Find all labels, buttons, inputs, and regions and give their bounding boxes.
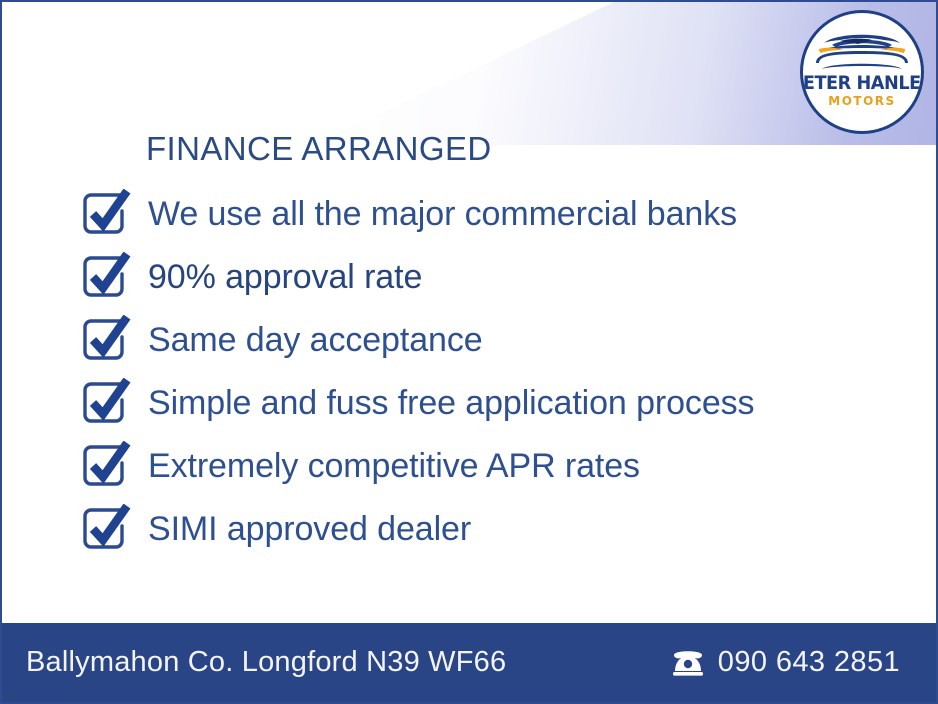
checkbox-checked-icon [80, 378, 134, 428]
checkbox-checked-icon [80, 504, 134, 554]
footer-phone-group[interactable]: 090 643 2851 [671, 646, 900, 679]
list-item: Extremely competitive APR rates [80, 434, 936, 497]
telephone-icon [671, 648, 705, 678]
list-item-label: Simple and fuss free application process [148, 384, 754, 422]
main-content: FINANCE ARRANGED We use all the major co… [2, 2, 936, 622]
finance-poster: PETER HANLEY MOTORS FINANCE ARRANGED We … [0, 0, 938, 704]
list-item-label: SIMI approved dealer [148, 510, 471, 548]
footer-phone-number: 090 643 2851 [718, 646, 900, 679]
checkbox-checked-icon [80, 189, 134, 239]
checkbox-checked-icon [80, 252, 134, 302]
checkbox-checked-icon [80, 441, 134, 491]
list-item: Simple and fuss free application process [80, 371, 936, 434]
list-item: Same day acceptance [80, 308, 936, 371]
checkbox-checked-icon [80, 315, 134, 365]
list-item: We use all the major commercial banks [80, 182, 936, 245]
feature-list: We use all the major commercial banks 90… [80, 182, 936, 560]
footer-bar: Ballymahon Co. Longford N39 WF66 090 643… [2, 623, 936, 702]
list-item: SIMI approved dealer [80, 497, 936, 560]
list-item-label: Same day acceptance [148, 321, 483, 359]
list-item-label: Extremely competitive APR rates [148, 447, 640, 485]
list-item-label: We use all the major commercial banks [148, 195, 737, 233]
list-item: 90% approval rate [80, 245, 936, 308]
page-title: FINANCE ARRANGED [146, 130, 936, 168]
footer-address: Ballymahon Co. Longford N39 WF66 [26, 646, 506, 679]
list-item-label: 90% approval rate [148, 258, 422, 296]
